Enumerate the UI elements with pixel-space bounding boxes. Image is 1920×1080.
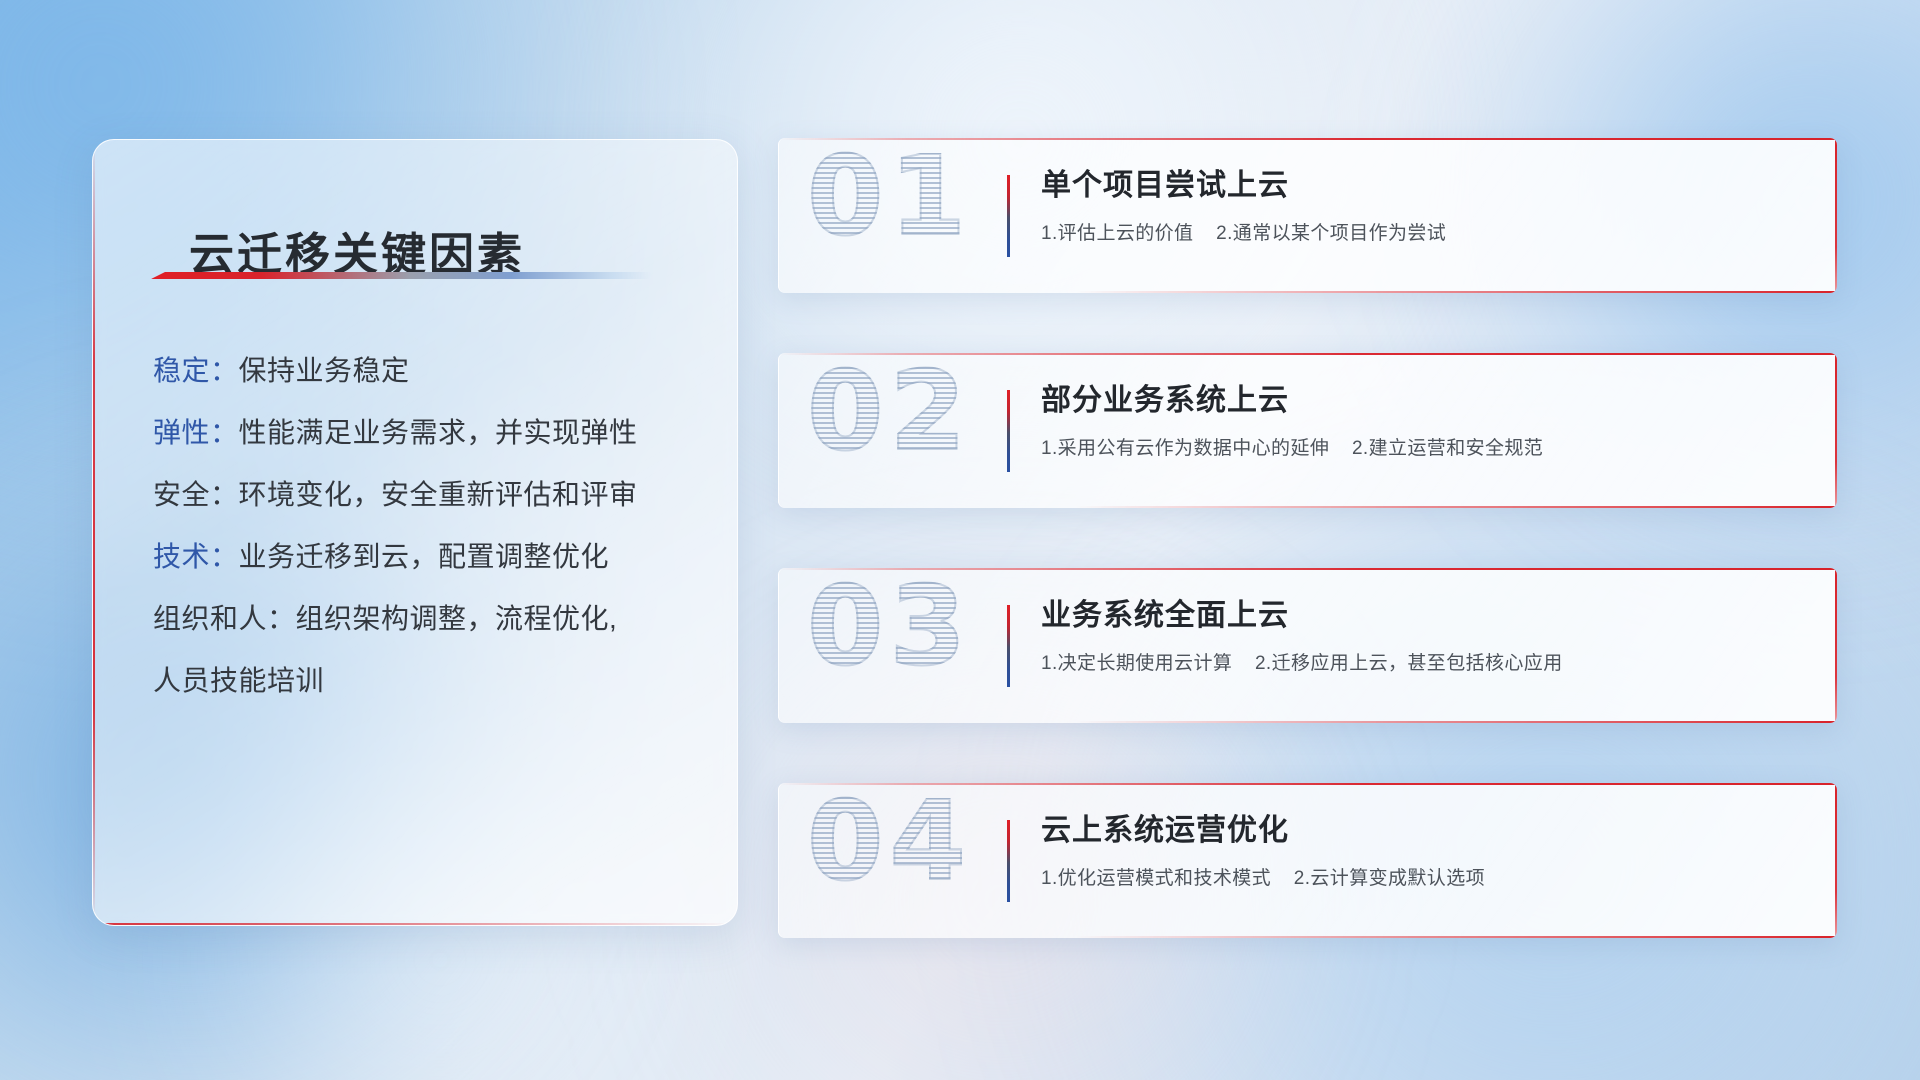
step-number: 03 — [807, 568, 972, 690]
factor-row: 稳定：保持业务稳定 — [153, 340, 713, 402]
step-title: 云上系统运营优化 — [1041, 809, 1797, 853]
step-description: 1.采用公有云作为数据中心的延伸 2.建立运营和安全规范 — [1041, 435, 1797, 463]
factor-label: 安全： — [153, 479, 239, 510]
step-body: 部分业务系统上云1.采用公有云作为数据中心的延伸 2.建立运营和安全规范 — [1041, 379, 1797, 463]
factor-row: 弹性：性能满足业务需求，并实现弹性 — [153, 402, 713, 464]
factor-list: 稳定：保持业务稳定弹性：性能满足业务需求，并实现弹性安全：环境变化，安全重新评估… — [153, 340, 713, 712]
factor-text: 组织架构调整，流程优化, — [296, 603, 618, 634]
factor-row: 技术：业务迁移到云，配置调整优化 — [153, 526, 713, 588]
step-title: 单个项目尝试上云 — [1041, 164, 1797, 208]
card-right-accent-line — [1835, 783, 1837, 938]
card-bottom-accent-line — [1075, 936, 1837, 938]
key-factors-panel: 云迁移关键因素 稳定：保持业务稳定弹性：性能满足业务需求，并实现弹性安全：环境变… — [92, 139, 738, 926]
step-description: 1.决定长期使用云计算 2.迁移应用上云，甚至包括核心应用 — [1041, 650, 1797, 678]
factor-label: 技术： — [153, 541, 239, 572]
factor-label: 组织和人： — [153, 603, 296, 634]
step-number: 02 — [807, 353, 972, 475]
card-bottom-accent-line — [1075, 506, 1837, 508]
step-card[interactable]: 03业务系统全面上云1.决定长期使用云计算 2.迁移应用上云，甚至包括核心应用 — [778, 568, 1837, 723]
panel-left-accent-line — [93, 140, 95, 925]
factor-text: 环境变化，安全重新评估和评审 — [239, 479, 638, 510]
step-body: 云上系统运营优化1.优化运营模式和技术模式 2.云计算变成默认选项 — [1041, 809, 1797, 893]
step-number: 04 — [807, 783, 972, 905]
factor-row: 安全：环境变化，安全重新评估和评审 — [153, 464, 713, 526]
step-divider — [1007, 605, 1010, 687]
migration-steps-list: 01单个项目尝试上云1.评估上云的价值 2.通常以某个项目作为尝试02部分业务系… — [778, 138, 1837, 998]
card-bottom-accent-line — [1075, 291, 1837, 293]
card-right-accent-line — [1835, 138, 1837, 293]
factor-text: 保持业务稳定 — [239, 355, 410, 386]
factor-continuation-line: 人员技能培训 — [153, 650, 713, 712]
factor-row: 组织和人：组织架构调整，流程优化, — [153, 588, 713, 650]
factor-label: 稳定： — [153, 355, 239, 386]
step-card[interactable]: 02部分业务系统上云1.采用公有云作为数据中心的延伸 2.建立运营和安全规范 — [778, 353, 1837, 508]
step-body: 业务系统全面上云1.决定长期使用云计算 2.迁移应用上云，甚至包括核心应用 — [1041, 594, 1797, 678]
panel-bottom-accent-line — [93, 923, 737, 925]
step-divider — [1007, 175, 1010, 257]
factor-label: 弹性： — [153, 417, 239, 448]
step-description: 1.评估上云的价值 2.通常以某个项目作为尝试 — [1041, 220, 1797, 248]
step-card[interactable]: 04云上系统运营优化1.优化运营模式和技术模式 2.云计算变成默认选项 — [778, 783, 1837, 938]
card-right-accent-line — [1835, 353, 1837, 508]
step-body: 单个项目尝试上云1.评估上云的价值 2.通常以某个项目作为尝试 — [1041, 164, 1797, 248]
step-card[interactable]: 01单个项目尝试上云1.评估上云的价值 2.通常以某个项目作为尝试 — [778, 138, 1837, 293]
title-underline-gradient — [151, 272, 651, 279]
step-divider — [1007, 820, 1010, 902]
factor-text: 业务迁移到云，配置调整优化 — [239, 541, 610, 572]
factor-text: 性能满足业务需求，并实现弹性 — [239, 417, 638, 448]
step-title: 部分业务系统上云 — [1041, 379, 1797, 423]
card-right-accent-line — [1835, 568, 1837, 723]
card-bottom-accent-line — [1075, 721, 1837, 723]
step-number: 01 — [807, 138, 972, 260]
step-description: 1.优化运营模式和技术模式 2.云计算变成默认选项 — [1041, 865, 1797, 893]
step-divider — [1007, 390, 1010, 472]
step-title: 业务系统全面上云 — [1041, 594, 1797, 638]
